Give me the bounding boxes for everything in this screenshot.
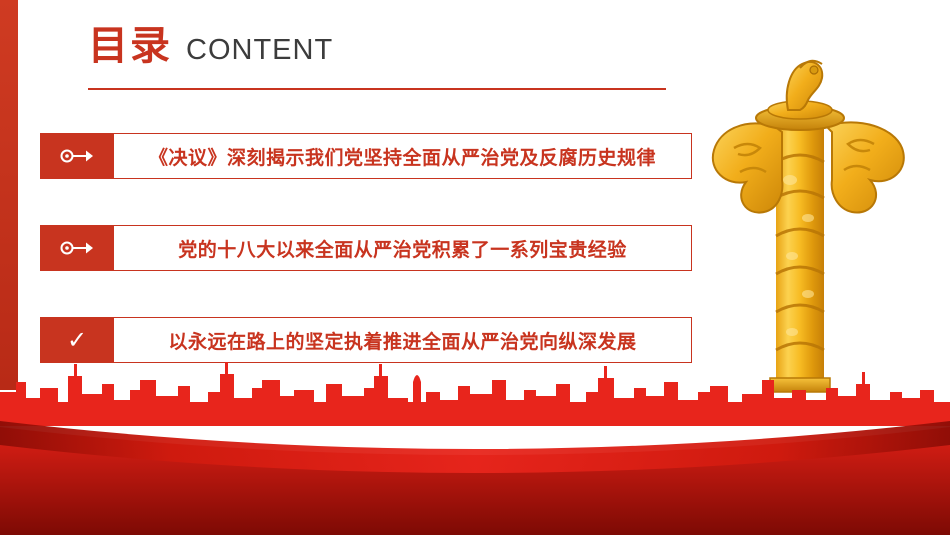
content-item-2-badge [40,225,114,271]
huabiao-ornamental-column [704,22,914,397]
left-accent-bar [0,0,18,390]
page-title: 目录 CONTENT [88,26,333,66]
content-item-1-label: 《决议》深刻揭示我们党坚持全面从严治党及反腐历史规律 [149,143,656,170]
page-title-en: CONTENT [186,36,333,65]
content-item-1-badge [40,133,114,179]
slide-root: 目录 CONTENT 《决议》深刻揭示我们党坚持全面从严治党及反腐历史规律 [0,0,950,535]
bottom-red-band [0,405,950,535]
arrow-bullet-icon [60,149,94,163]
page-title-cn: 目录 [88,26,172,66]
content-item-2-label: 党的十八大以来全面从严治党积累了一系列宝贵经验 [178,235,627,262]
content-item-2-text-box: 党的十八大以来全面从严治党积累了一系列宝贵经验 [114,225,692,271]
content-item-1[interactable]: 《决议》深刻揭示我们党坚持全面从严治党及反腐历史规律 [40,133,692,179]
title-divider [88,88,666,90]
content-item-1-text-box: 《决议》深刻揭示我们党坚持全面从严治党及反腐历史规律 [114,133,692,179]
arrow-bullet-icon [60,241,94,255]
content-item-2[interactable]: 党的十八大以来全面从严治党积累了一系列宝贵经验 [40,225,692,271]
